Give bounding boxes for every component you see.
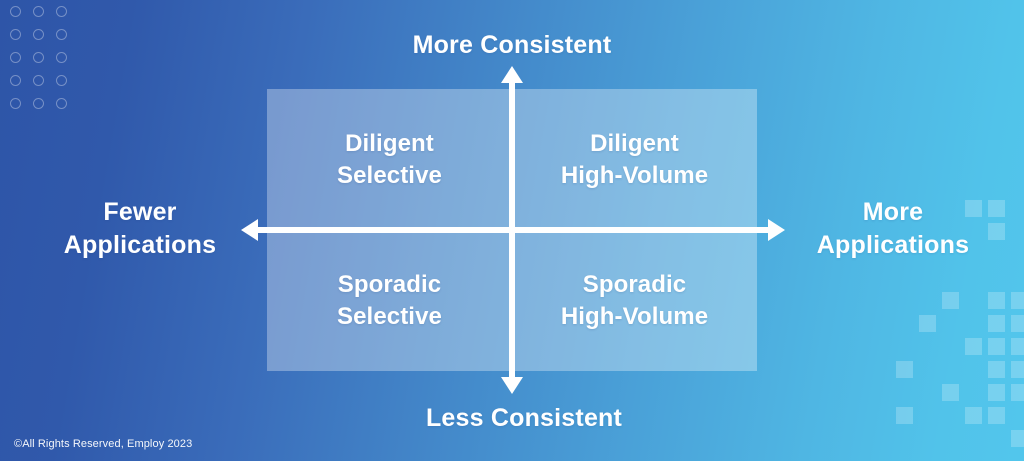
square-block-icon xyxy=(988,361,1005,378)
square-block-icon xyxy=(965,338,982,355)
square-block-icon xyxy=(896,338,913,355)
quadrant-bottom-left: Sporadic Selective xyxy=(267,230,512,371)
square-block-icon xyxy=(896,361,913,378)
square-block-icon xyxy=(1011,430,1024,447)
square-block-icon xyxy=(1011,223,1024,240)
square-block-icon xyxy=(965,315,982,332)
quadrant-label-diligent-selective: Diligent Selective xyxy=(337,128,442,191)
circle-dot-icon xyxy=(10,75,21,86)
circle-dot-icon xyxy=(33,52,44,63)
circle-dot-icon xyxy=(10,29,21,40)
circle-dot-icon xyxy=(33,98,44,109)
square-block-icon xyxy=(919,292,936,309)
circle-dot-icon xyxy=(33,29,44,40)
circle-dot-icon xyxy=(56,6,67,17)
quadrant-top-left: Diligent Selective xyxy=(267,89,512,230)
circle-dot-icon xyxy=(33,6,44,17)
square-block-icon xyxy=(896,292,913,309)
axis-label-right: More Applications xyxy=(778,196,1008,261)
infographic-canvas: More Consistent Less Consistent Fewer Ap… xyxy=(0,0,1024,461)
quadrant-label-sporadic-high-volume: Sporadic High-Volume xyxy=(561,269,708,332)
square-block-icon xyxy=(1011,384,1024,401)
arrow-right-icon xyxy=(768,219,785,241)
arrow-down-icon xyxy=(501,377,523,394)
circle-dot-icon xyxy=(56,52,67,63)
square-block-icon xyxy=(1011,292,1024,309)
square-block-icon xyxy=(1011,200,1024,217)
axis-label-bottom: Less Consistent xyxy=(324,402,724,435)
square-block-icon xyxy=(896,315,913,332)
square-block-icon xyxy=(942,384,959,401)
circle-dot-icon xyxy=(56,98,67,109)
quadrant-top-right: Diligent High-Volume xyxy=(512,89,757,230)
axis-label-top: More Consistent xyxy=(312,29,712,62)
square-block-icon xyxy=(965,384,982,401)
quadrant-bottom-right: Sporadic High-Volume xyxy=(512,230,757,371)
circle-dot-icon xyxy=(10,6,21,17)
square-block-icon xyxy=(942,292,959,309)
circle-dot-icon xyxy=(56,29,67,40)
square-block-icon xyxy=(919,315,936,332)
square-block-icon xyxy=(919,407,936,424)
axis-label-left: Fewer Applications xyxy=(20,196,260,261)
square-block-icon xyxy=(919,384,936,401)
square-block-icon xyxy=(896,430,913,447)
square-block-icon xyxy=(919,430,936,447)
square-block-icon xyxy=(965,292,982,309)
square-block-icon xyxy=(942,361,959,378)
square-block-icon xyxy=(965,407,982,424)
square-block-grid-bottom-icon xyxy=(896,292,1024,453)
circle-dot-icon xyxy=(10,98,21,109)
square-block-icon xyxy=(988,407,1005,424)
square-block-icon xyxy=(896,407,913,424)
square-block-icon xyxy=(919,338,936,355)
square-block-icon xyxy=(942,315,959,332)
arrow-up-icon xyxy=(501,66,523,83)
square-block-icon xyxy=(965,361,982,378)
copyright-text: ©All Rights Reserved, Employ 2023 xyxy=(14,438,192,450)
square-block-icon xyxy=(942,430,959,447)
horizontal-axis-line xyxy=(258,227,768,233)
square-block-icon xyxy=(988,430,1005,447)
arrow-left-icon xyxy=(241,219,258,241)
square-block-icon xyxy=(1011,361,1024,378)
square-block-icon xyxy=(988,338,1005,355)
square-block-icon xyxy=(896,384,913,401)
square-block-icon xyxy=(988,384,1005,401)
circle-dot-icon xyxy=(10,52,21,63)
square-block-icon xyxy=(1011,315,1024,332)
square-block-icon xyxy=(1011,338,1024,355)
circle-dot-icon xyxy=(56,75,67,86)
circle-dot-icon xyxy=(33,75,44,86)
square-block-icon xyxy=(942,407,959,424)
quadrant-matrix: Diligent Selective Diligent High-Volume … xyxy=(267,89,757,371)
square-block-icon xyxy=(988,315,1005,332)
square-block-icon xyxy=(988,292,1005,309)
square-block-icon xyxy=(942,338,959,355)
square-block-icon xyxy=(965,430,982,447)
square-block-icon xyxy=(1011,407,1024,424)
circle-dot-grid-icon xyxy=(10,6,79,121)
square-block-icon xyxy=(919,361,936,378)
quadrant-label-sporadic-selective: Sporadic Selective xyxy=(337,269,442,332)
quadrant-label-diligent-high-volume: Diligent High-Volume xyxy=(561,128,708,191)
